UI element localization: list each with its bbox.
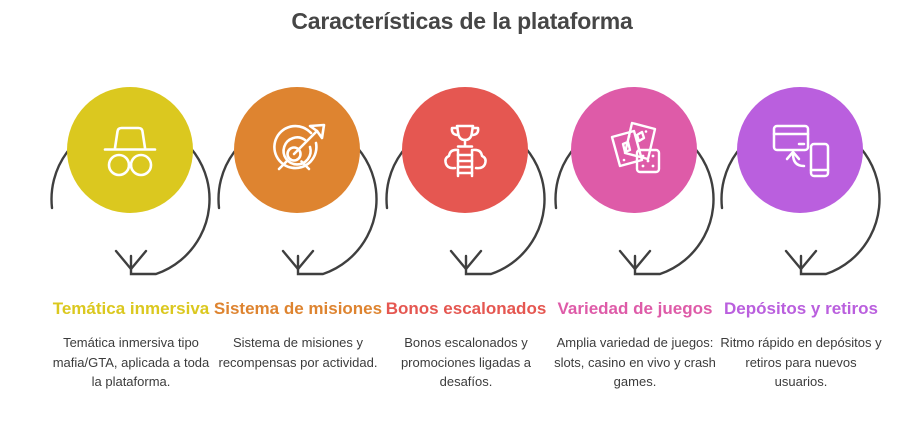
text-block: Temática inmersiva Temática inmersiva ti… (38, 298, 224, 392)
feature-column-bonos-escalonados: Bonos escalonados Bonos escalonados y pr… (373, 70, 559, 300)
text-block: Depósitos y retiros Ritmo rápido en depó… (708, 298, 894, 392)
feature-heading: Temática inmersiva (38, 298, 224, 319)
feature-description: Ritmo rápido en depósitos y retiros para… (708, 333, 894, 392)
feature-description: Temática inmersiva tipo mafia/GTA, aplic… (38, 333, 224, 392)
icon-node (205, 70, 391, 300)
feature-heading: Depósitos y retiros (708, 298, 894, 319)
card-phone-transfer-icon (737, 87, 863, 213)
cards-dice-icon (571, 87, 697, 213)
feature-description: Amplia variedad de juegos: slots, casino… (542, 333, 728, 392)
text-block: Bonos escalonados Bonos escalonados y pr… (373, 298, 559, 392)
feature-description: Bonos escalonados y promociones ligadas … (373, 333, 559, 392)
feature-column-variedad-de-juegos: Variedad de juegos Amplia variedad de ju… (542, 70, 728, 300)
feature-heading: Sistema de misiones (205, 298, 391, 319)
feature-column-sistema-de-misiones: Sistema de misiones Sistema de misiones … (205, 70, 391, 300)
hat-glasses-icon (67, 87, 193, 213)
text-block: Sistema de misiones Sistema de misiones … (205, 298, 391, 372)
feature-column-depositos-y-retiros: Depósitos y retiros Ritmo rápido en depó… (708, 70, 894, 300)
icon-node (542, 70, 728, 300)
icon-node (708, 70, 894, 300)
infographic-canvas: Características de la plataforma (0, 0, 924, 444)
trophy-ladder-icon (402, 87, 528, 213)
page-title: Características de la plataforma (0, 8, 924, 35)
target-arrow-icon (234, 87, 360, 213)
feature-heading: Bonos escalonados (373, 298, 559, 319)
feature-description: Sistema de misiones y recompensas por ac… (205, 333, 391, 372)
icon-node (38, 70, 224, 300)
text-block: Variedad de juegos Amplia variedad de ju… (542, 298, 728, 392)
feature-heading: Variedad de juegos (542, 298, 728, 319)
icon-node (373, 70, 559, 300)
feature-column-tematica-inmersiva: Temática inmersiva Temática inmersiva ti… (38, 70, 224, 300)
